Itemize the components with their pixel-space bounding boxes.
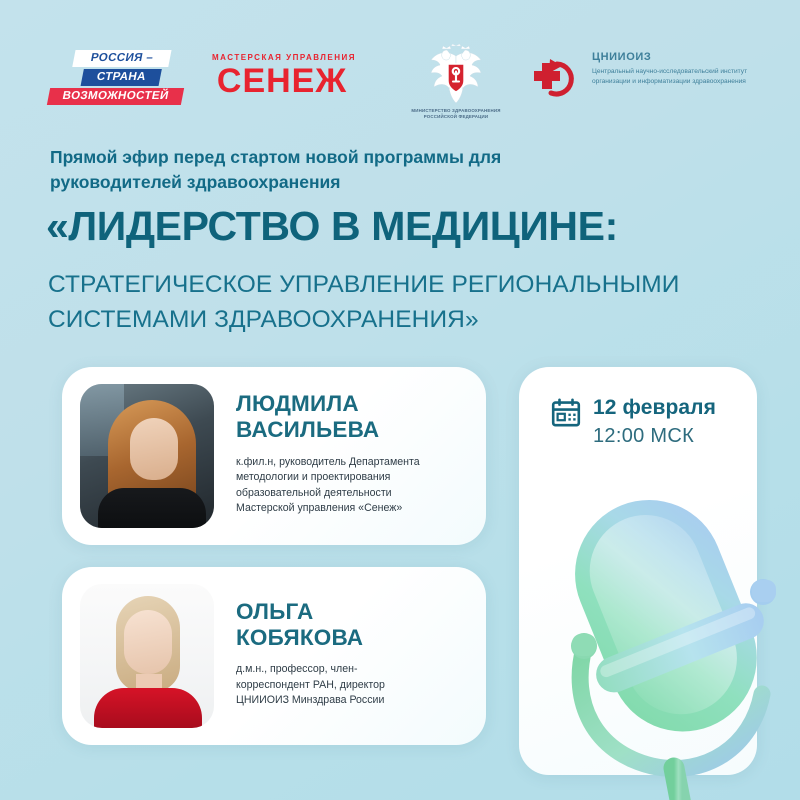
rsv-line-1: РОССИЯ – bbox=[72, 50, 171, 67]
cniioiz-title: ЦНИИОИЗ bbox=[592, 52, 750, 63]
event-time: 12:00 МСК bbox=[593, 423, 716, 449]
speaker-card: ЛЮДМИЛА ВАСИЛЬЕВА к.фил.н, руководитель … bbox=[62, 367, 486, 545]
speaker-name: ЛЮДМИЛА ВАСИЛЬЕВА bbox=[236, 391, 420, 442]
senezh-wordmark: СЕНЕЖ bbox=[212, 65, 352, 97]
event-kicker: Прямой эфир перед стартом новой программ… bbox=[50, 145, 550, 195]
ministry-caption: Министерство здравоохранения Российской … bbox=[404, 108, 508, 121]
cniioiz-subtitle: Центральный научно-исследовательский инс… bbox=[592, 67, 750, 87]
poster-root: РОССИЯ – СТРАНА ВОЗМОЖНОСТЕЙ МАСТЕРСКАЯ … bbox=[0, 0, 800, 800]
speaker-name: ОЛЬГА КОБЯКОВА bbox=[236, 599, 385, 650]
avatar bbox=[80, 584, 214, 728]
senezh-tagline: МАСТЕРСКАЯ УПРАВЛЕНИЯ bbox=[212, 54, 352, 62]
rsv-line-2: СТРАНА bbox=[81, 69, 162, 86]
cniioiz-logo: ЦНИИОИЗ Центральный научно-исследователь… bbox=[530, 52, 750, 101]
double-headed-eagle-icon bbox=[423, 44, 489, 106]
senezh-logo: МАСТЕРСКАЯ УПРАВЛЕНИЯ СЕНЕЖ bbox=[212, 54, 352, 97]
page-subtitle: СТРАТЕГИЧЕСКОЕ УПРАВЛЕНИЕ РЕГИОНАЛЬНЫМИ … bbox=[48, 268, 748, 338]
logo-strip: РОССИЯ – СТРАНА ВОЗМОЖНОСТЕЙ МАСТЕРСКАЯ … bbox=[0, 42, 800, 118]
ministry-logo: Министерство здравоохранения Российской … bbox=[404, 44, 508, 121]
rsv-logo: РОССИЯ – СТРАНА ВОЗМОЖНОСТЕЙ bbox=[46, 50, 191, 107]
cross-arrow-icon bbox=[530, 55, 582, 101]
rsv-line-3: ВОЗМОЖНОСТЕЙ bbox=[47, 88, 184, 105]
speaker-role: к.фил.н, руководитель Департамента метод… bbox=[236, 455, 420, 517]
page-title: «ЛИДЕРСТВО В МЕДИЦИНЕ: bbox=[46, 206, 776, 247]
calendar-icon bbox=[551, 398, 581, 428]
avatar bbox=[80, 384, 214, 528]
speaker-card: ОЛЬГА КОБЯКОВА д.м.н., профессор, член- … bbox=[62, 567, 486, 745]
speaker-role: д.м.н., профессор, член- корреспондент Р… bbox=[236, 662, 385, 708]
event-date-card: 12 февраля 12:00 МСК bbox=[519, 367, 757, 775]
event-date: 12 февраля bbox=[593, 396, 716, 420]
